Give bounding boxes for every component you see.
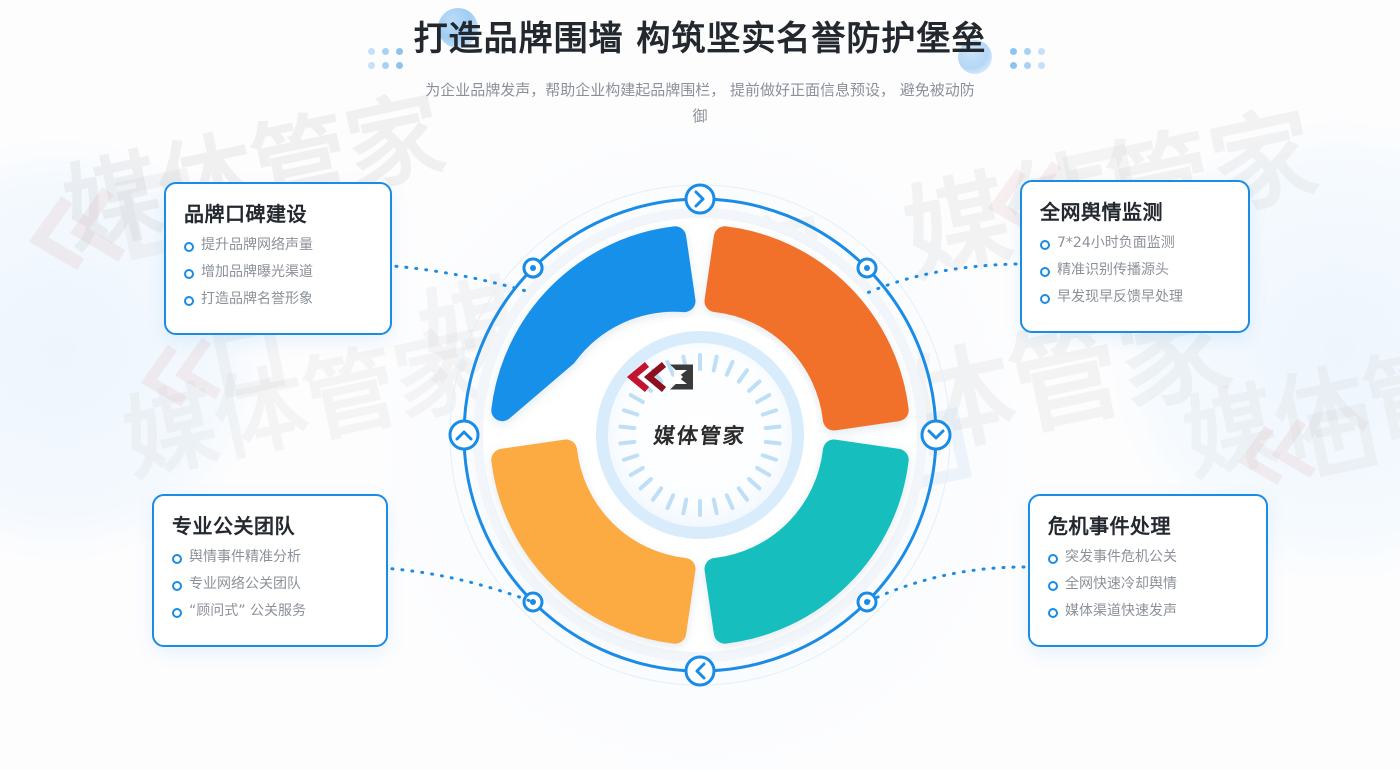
page-subtitle: 为企业品牌发声，帮助企业构建起品牌围栏， 提前做好正面信息预设， 避免被动防御 bbox=[420, 77, 980, 129]
list-item: 增加品牌曝光渠道 bbox=[184, 263, 372, 281]
anchor-dot-top-left[interactable] bbox=[524, 259, 542, 277]
list-item: 突发事件危机公关 bbox=[1048, 548, 1248, 566]
card-brand-reputation[interactable]: 品牌口碑建设 提升品牌网络声量 增加品牌曝光渠道 打造品牌名誉形象 bbox=[164, 182, 392, 335]
card-title: 品牌口碑建设 bbox=[184, 198, 372, 227]
watermark-logo-icon bbox=[1228, 400, 1383, 496]
list-item: 早发现早反馈早处理 bbox=[1040, 288, 1230, 306]
anchor-dot-bottom-left[interactable] bbox=[524, 593, 542, 611]
list-item: 专业网络公关团队 bbox=[172, 575, 368, 593]
card-bullet-list: 舆情事件精准分析 专业网络公关团队 “顾问式” 公关服务 bbox=[172, 548, 368, 620]
list-item: 媒体渠道快速发声 bbox=[1048, 602, 1248, 620]
card-title: 全网舆情监测 bbox=[1040, 196, 1230, 225]
brand-logo-text: 媒体管家 bbox=[652, 420, 748, 450]
card-bullet-list: 7*24小时负面监测 精准识别传播源头 早发现早反馈早处理 bbox=[1040, 234, 1230, 306]
anchor-dot-bottom-right[interactable] bbox=[858, 593, 876, 611]
card-bullet-list: 提升品牌网络声量 增加品牌曝光渠道 打造品牌名誉形象 bbox=[184, 236, 372, 308]
list-item: 7*24小时负面监测 bbox=[1040, 234, 1230, 252]
list-item: 精准识别传播源头 bbox=[1040, 261, 1230, 279]
node-right[interactable] bbox=[922, 421, 950, 449]
list-item: “顾问式” 公关服务 bbox=[172, 602, 368, 620]
brand-logo-icon bbox=[625, 360, 699, 394]
page-header: 打造品牌围墙 构筑坚实名誉防护堡垒 为企业品牌发声，帮助企业构建起品牌围栏， 提… bbox=[0, 18, 1400, 129]
anchor-dot-top-right[interactable] bbox=[858, 259, 876, 277]
list-item: 提升品牌网络声量 bbox=[184, 236, 372, 254]
list-item: 舆情事件精准分析 bbox=[172, 548, 368, 566]
node-left[interactable] bbox=[450, 421, 478, 449]
node-top[interactable] bbox=[686, 185, 714, 213]
card-bullet-list: 突发事件危机公关 全网快速冷却舆情 媒体渠道快速发声 bbox=[1048, 548, 1248, 620]
card-title: 专业公关团队 bbox=[172, 510, 368, 539]
decorative-dot-grid-right bbox=[1010, 48, 1045, 69]
card-opinion-monitoring[interactable]: 全网舆情监测 7*24小时负面监测 精准识别传播源头 早发现早反馈早处理 bbox=[1020, 180, 1250, 333]
list-item: 打造品牌名誉形象 bbox=[184, 290, 372, 308]
center-brand-logo: 媒体管家 bbox=[625, 360, 775, 510]
card-pr-team[interactable]: 专业公关团队 舆情事件精准分析 专业网络公关团队 “顾问式” 公关服务 bbox=[152, 494, 388, 647]
brand-protection-donut-chart: 媒体管家 bbox=[440, 175, 960, 695]
node-bottom[interactable] bbox=[686, 657, 714, 685]
decorative-dot-grid-left bbox=[368, 48, 403, 69]
card-title: 危机事件处理 bbox=[1048, 510, 1248, 539]
page-title: 打造品牌围墙 构筑坚实名誉防护堡垒 bbox=[414, 18, 987, 61]
list-item: 全网快速冷却舆情 bbox=[1048, 575, 1248, 593]
card-crisis-handling[interactable]: 危机事件处理 突发事件危机公关 全网快速冷却舆情 媒体渠道快速发声 bbox=[1028, 494, 1268, 647]
infographic-stage: 媒体管家 媒体管家 媒体管家 媒体管家 媒体管家 媒体管家 bbox=[0, 0, 1400, 700]
